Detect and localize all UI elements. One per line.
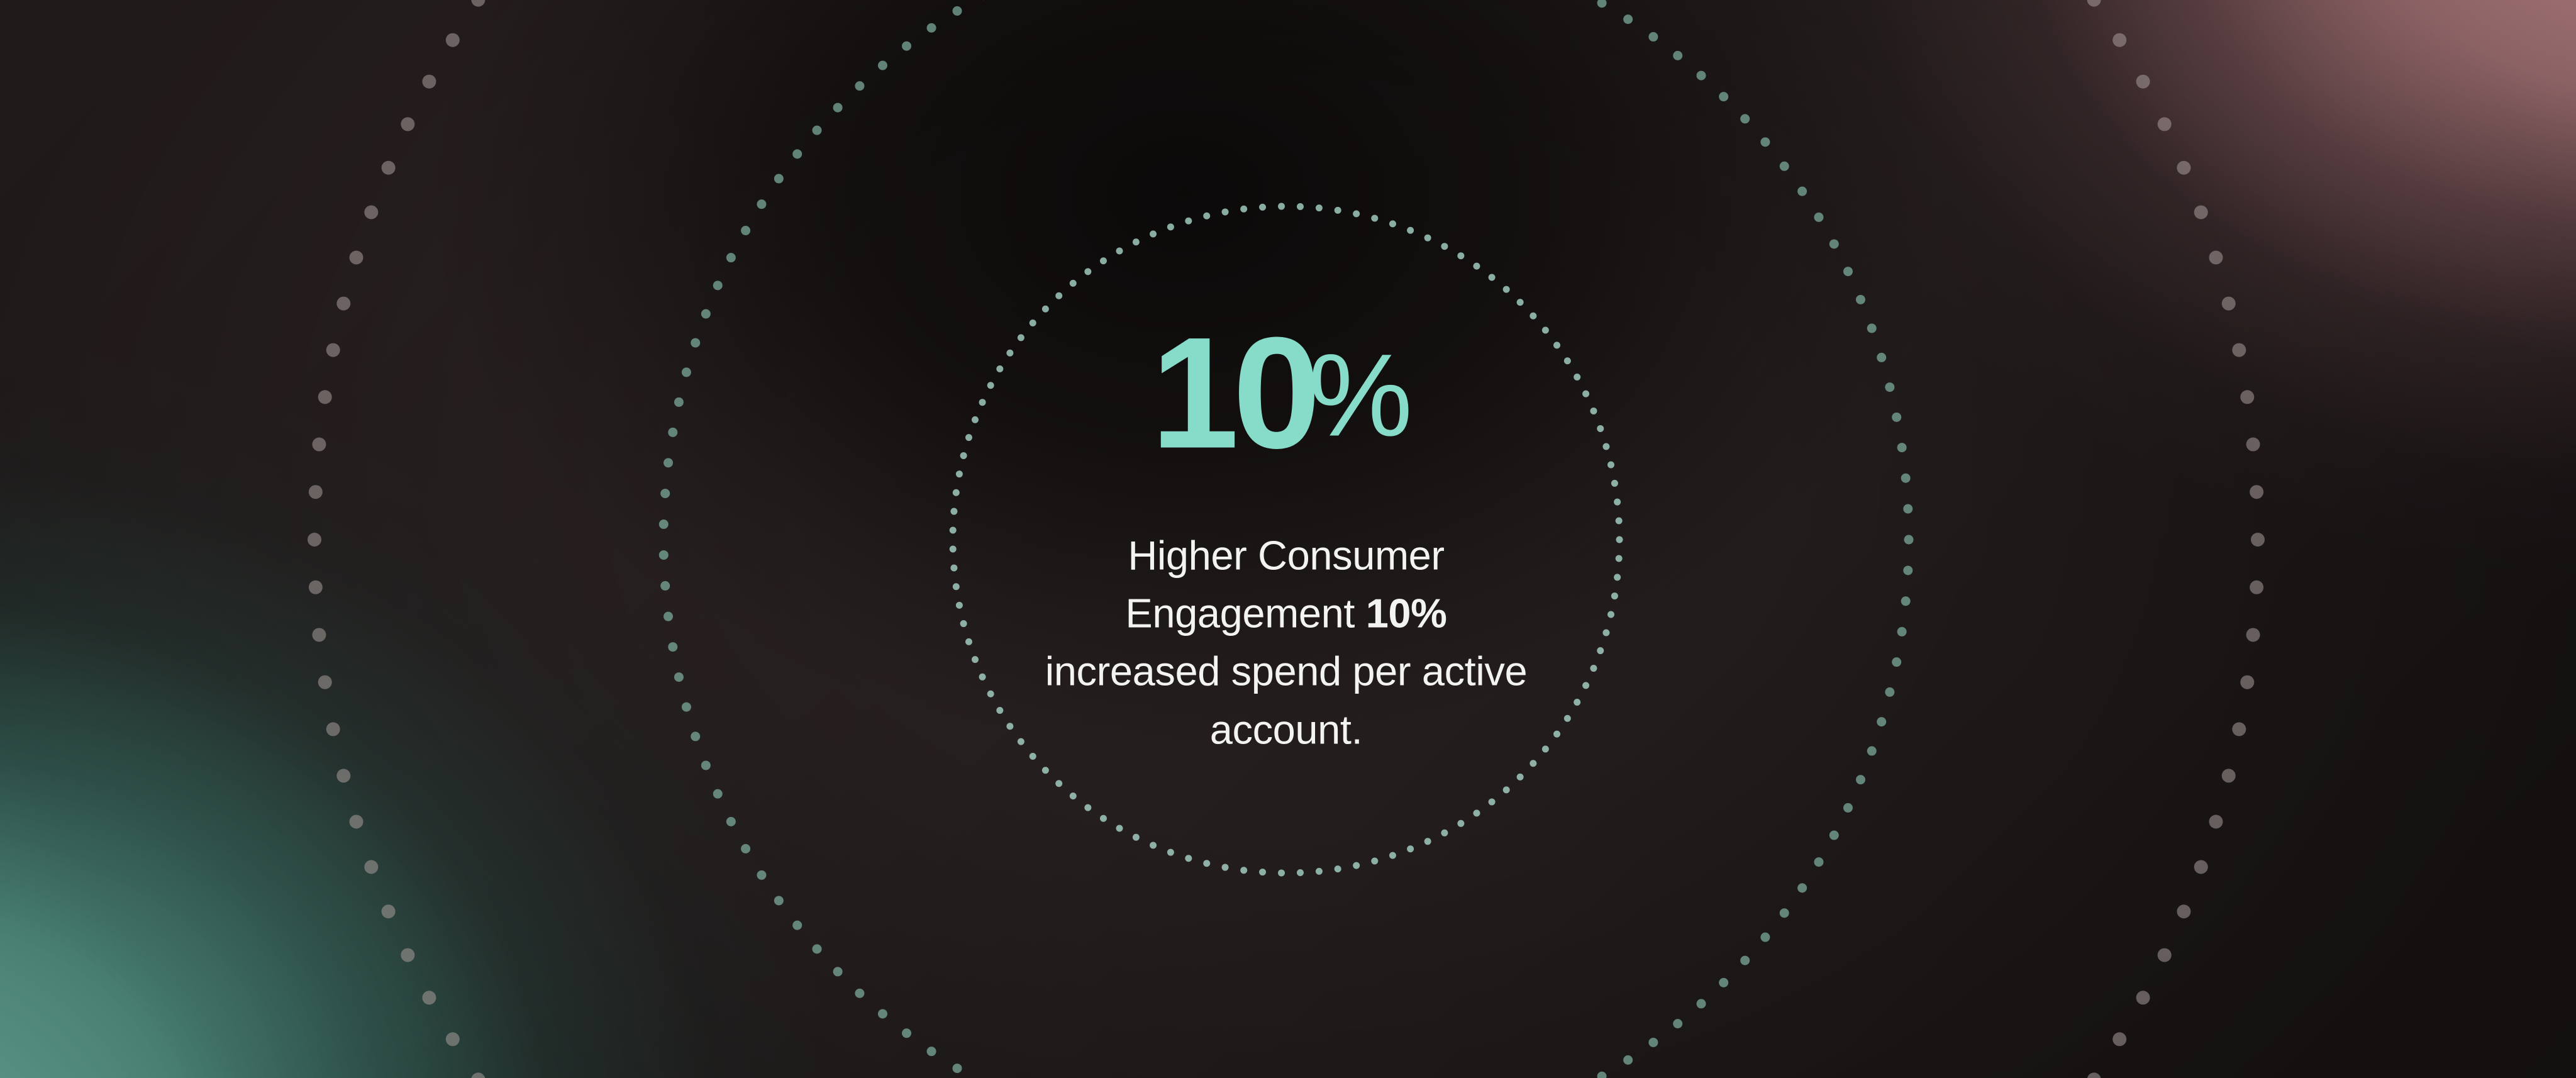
- caption-highlight: 10%: [1366, 591, 1447, 636]
- stat-caption: Higher Consumer Engagement 10% increased…: [1035, 526, 1538, 758]
- stat-value: 10: [1151, 304, 1314, 481]
- percent-symbol: %: [1317, 342, 1413, 450]
- caption-tail: increased spend per active account.: [1045, 648, 1527, 752]
- stat-headline-number: 10%: [940, 320, 1632, 466]
- hero-stat-banner: 10% Higher Consumer Engagement 10% incre…: [0, 0, 2576, 1078]
- stat-content-block: 10% Higher Consumer Engagement 10% incre…: [940, 320, 1632, 758]
